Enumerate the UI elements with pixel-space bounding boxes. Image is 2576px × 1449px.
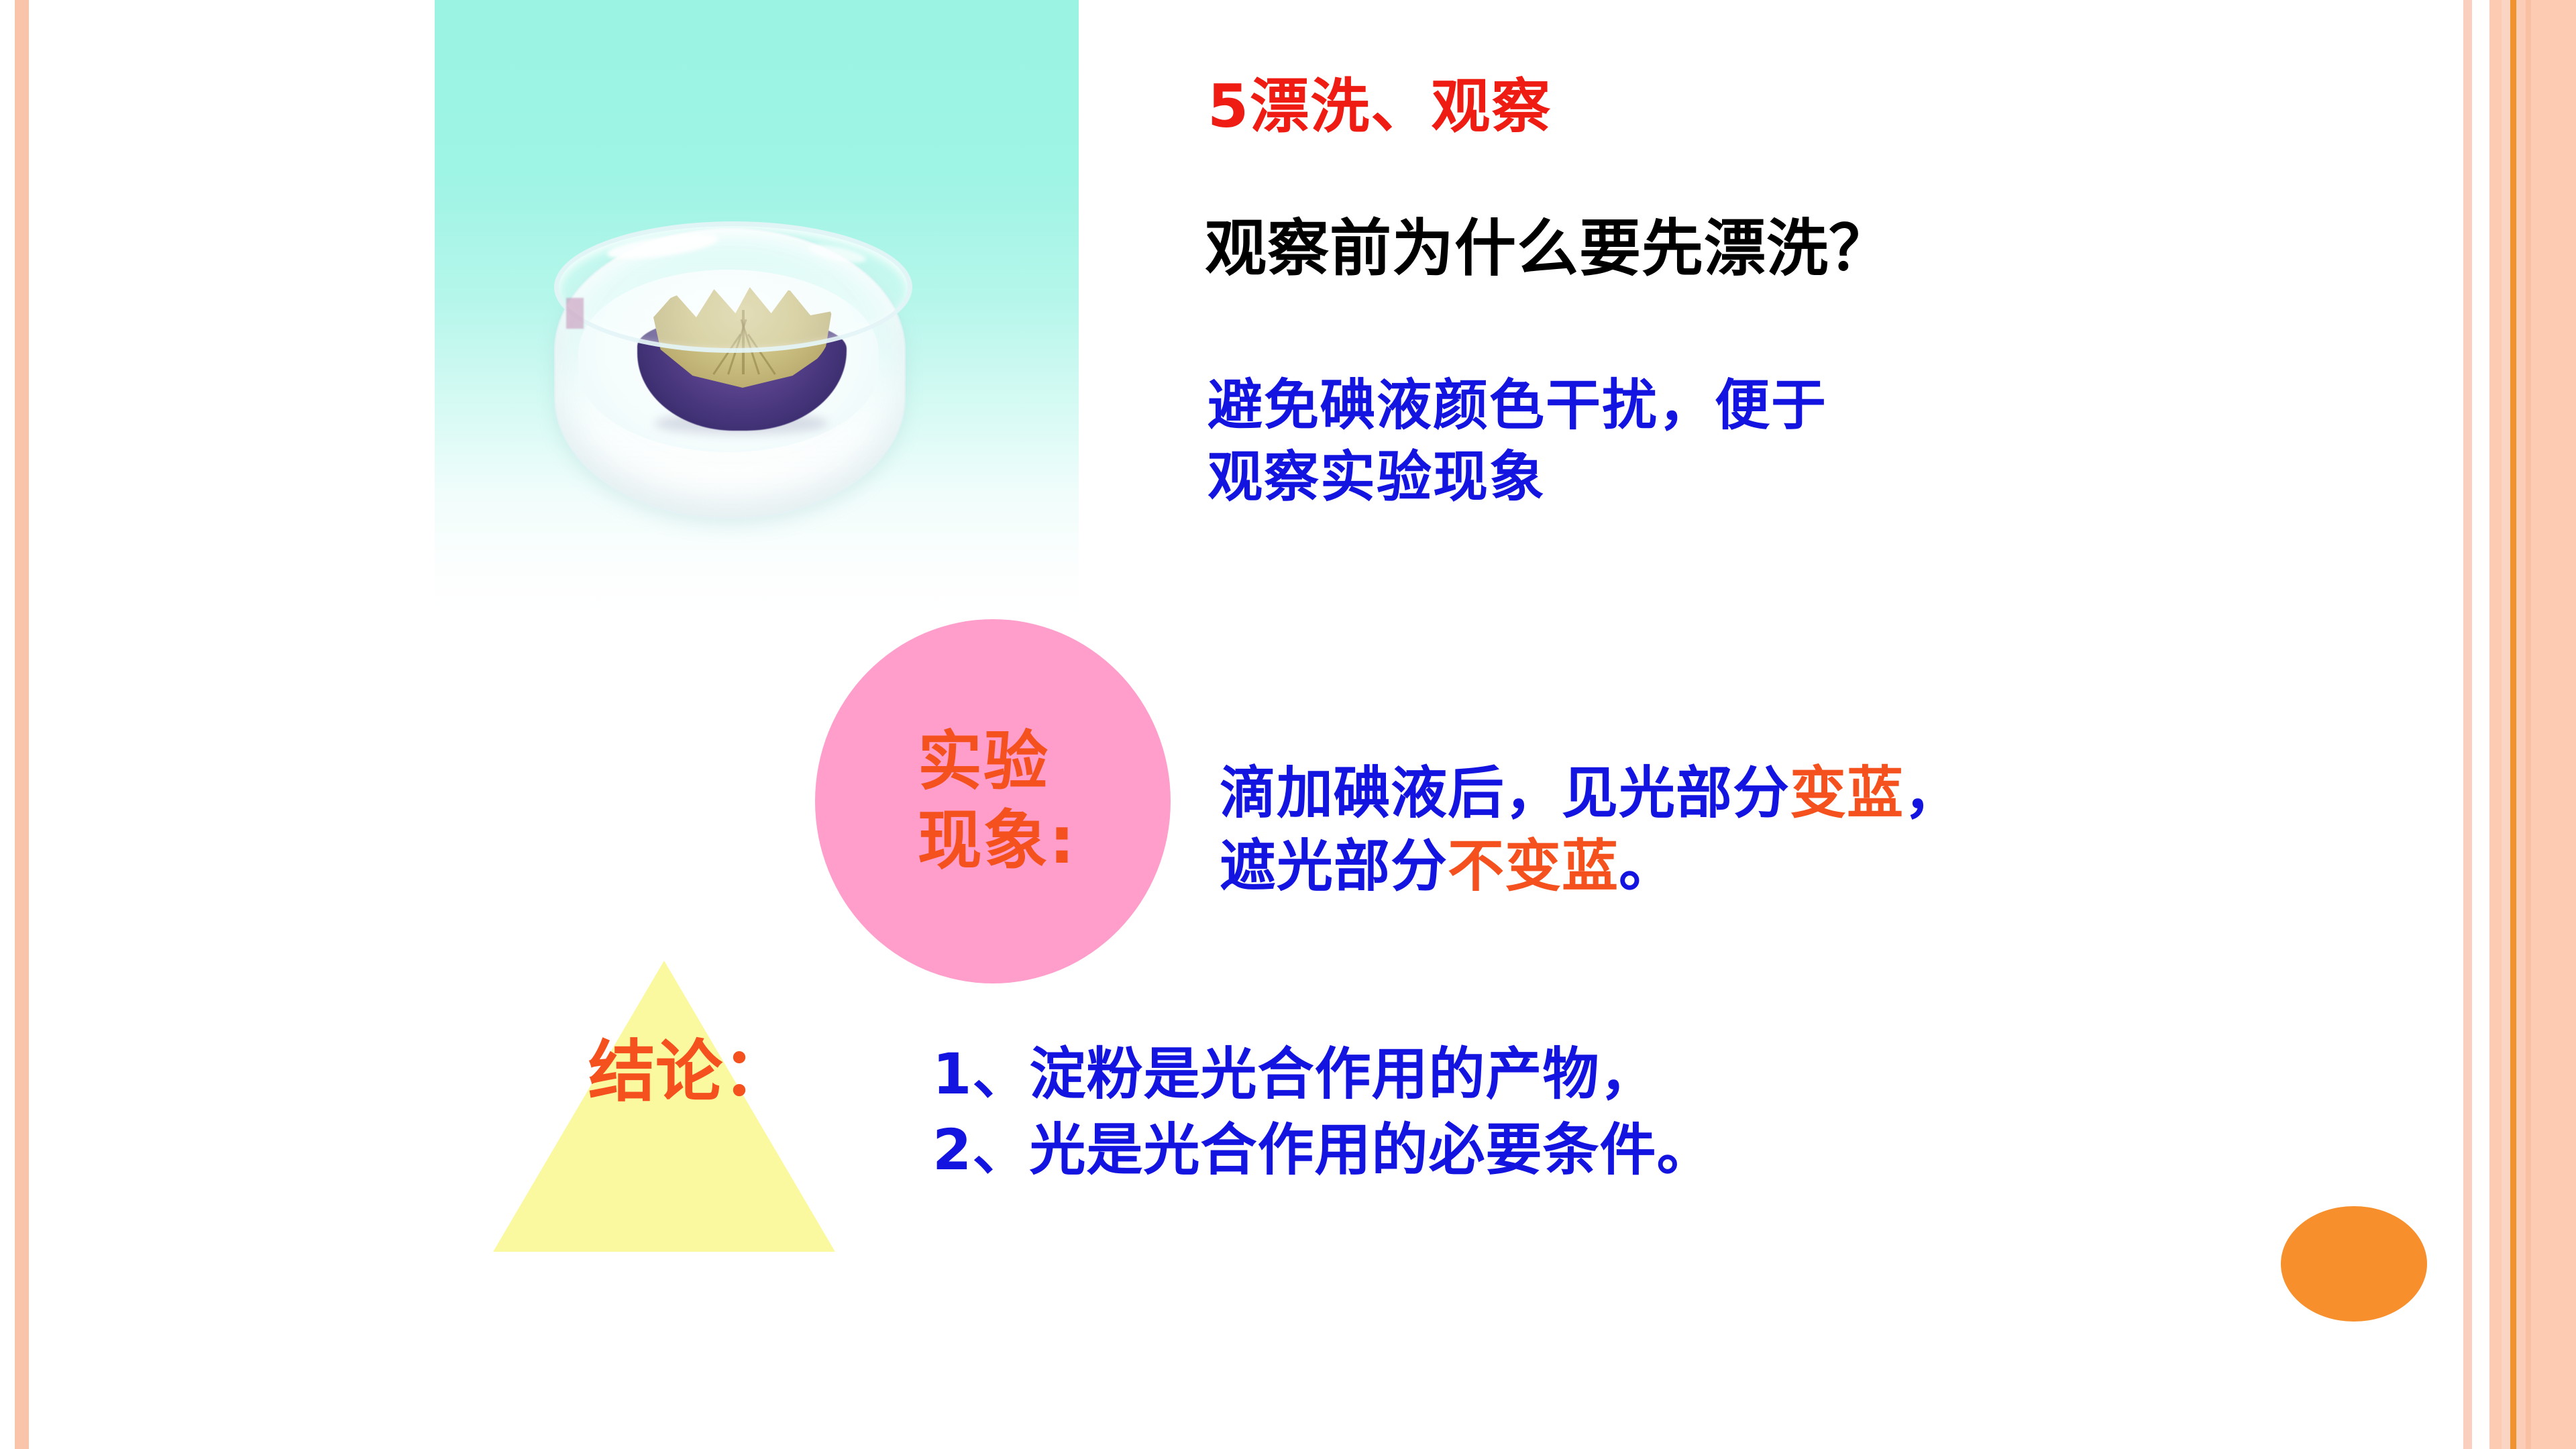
- conclusions-block: 1、淀粉是光合作用的产物， 2、光是光合作用的必要条件。: [932, 1036, 1713, 1187]
- phenomenon-line-2-lead: 遮光部分: [1220, 833, 1448, 899]
- conclusion-badge-label: 结论：: [588, 1038, 790, 1106]
- right-decorative-band-5: [2516, 0, 2526, 1449]
- phenomenon-line-1-tail: ，: [1904, 760, 1961, 826]
- answer-line-1: 避免碘液颜色干扰，便于: [1207, 370, 1827, 442]
- phenomenon-badge-line-1: 实验: [918, 722, 1049, 801]
- phenomenon-line-1-lead: 滴加碘液后，见光部分: [1220, 760, 1790, 826]
- conclusion-item-2: 2、光是光合作用的必要条件。: [932, 1112, 1713, 1188]
- step-heading: 5漂洗、观察: [1207, 72, 1552, 140]
- petri-dish-rim: [554, 221, 912, 353]
- phenomenon-line-2-tail: 。: [1619, 833, 1676, 899]
- petri-dish-photo: [435, 0, 1079, 616]
- conclusion-item-1: 1、淀粉是光合作用的产物，: [932, 1036, 1713, 1112]
- question-text: 观察前为什么要先漂洗？: [1205, 213, 1891, 284]
- conclusion-badge: 结论：: [493, 961, 835, 1252]
- phenomenon-line-1: 滴加碘液后，见光部分变蓝，: [1220, 757, 1961, 830]
- answer-line-2: 观察实验现象: [1207, 442, 1827, 514]
- left-decorative-bar: [15, 0, 29, 1449]
- petri-dish-label-mark: [566, 298, 584, 329]
- right-decorative-band-7: [2531, 0, 2576, 1449]
- phenomenon-line-2-highlight: 不变蓝: [1448, 833, 1619, 899]
- phenomenon-line-2: 遮光部分不变蓝。: [1220, 830, 1961, 903]
- right-decorative-band-3: [2502, 0, 2510, 1449]
- right-decorative-band-6: [2526, 0, 2531, 1449]
- phenomenon-text-block: 滴加碘液后，见光部分变蓝， 遮光部分不变蓝。: [1220, 757, 1961, 903]
- right-decorative-band-1: [2463, 0, 2472, 1449]
- answer-block: 避免碘液颜色干扰，便于 观察实验现象: [1207, 370, 1827, 513]
- phenomenon-badge: 实验 现象:: [815, 619, 1171, 983]
- phenomenon-line-1-highlight: 变蓝: [1790, 760, 1904, 826]
- orange-accent-ellipse: [2281, 1206, 2427, 1322]
- slide-canvas: 5漂洗、观察 观察前为什么要先漂洗？ 避免碘液颜色干扰，便于 观察实验现象 实验…: [0, 0, 2576, 1449]
- right-decorative-band-accent: [2510, 0, 2516, 1449]
- phenomenon-badge-line-2: 现象:: [918, 802, 1076, 880]
- right-decorative-band-2: [2489, 0, 2502, 1449]
